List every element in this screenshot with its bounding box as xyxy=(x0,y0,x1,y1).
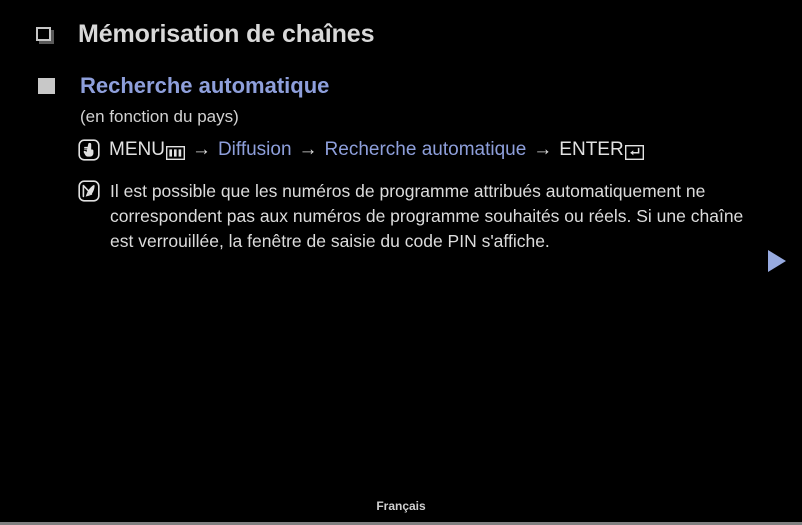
path-arrow-3: → xyxy=(526,138,559,162)
section-heading-row[interactable]: Recherche automatique xyxy=(38,72,329,99)
menu-path-row: MENU → Diffusion → Recherche automatique… xyxy=(78,138,644,162)
hollow-square-bullet-icon xyxy=(36,27,51,41)
next-page-triangle-icon[interactable] xyxy=(768,250,786,272)
path-arrow-1: → xyxy=(185,138,218,162)
section-subnote: (en fonction du pays) xyxy=(80,106,239,128)
menu-path-broadcast[interactable]: Diffusion xyxy=(218,138,292,162)
enter-glyph-icon xyxy=(625,143,644,158)
menu-path-text: MENU → Diffusion → Recherche automatique… xyxy=(109,138,644,162)
footer-bar: Français xyxy=(0,499,802,525)
page-title: Mémorisation de chaînes xyxy=(78,18,374,50)
emanual-page: Mémorisation de chaînes Recherche automa… xyxy=(0,0,802,525)
hand-pointer-icon xyxy=(78,139,100,161)
note-row: Il est possible que les numéros de progr… xyxy=(78,179,768,254)
menu-glyph-icon xyxy=(166,143,185,157)
section-heading[interactable]: Recherche automatique xyxy=(80,72,329,99)
menu-path-enter-label: ENTER xyxy=(559,138,623,162)
note-pen-icon xyxy=(78,180,100,202)
filled-square-bullet-icon xyxy=(38,78,55,94)
page-title-row: Mémorisation de chaînes xyxy=(36,18,374,50)
menu-path-autotune[interactable]: Recherche automatique xyxy=(325,138,527,162)
footer-language-label: Français xyxy=(0,499,802,513)
note-text: Il est possible que les numéros de progr… xyxy=(110,179,768,254)
next-page-triangle-shape xyxy=(768,250,786,272)
path-arrow-2: → xyxy=(292,138,325,162)
menu-path-menu-label: MENU xyxy=(109,138,165,162)
